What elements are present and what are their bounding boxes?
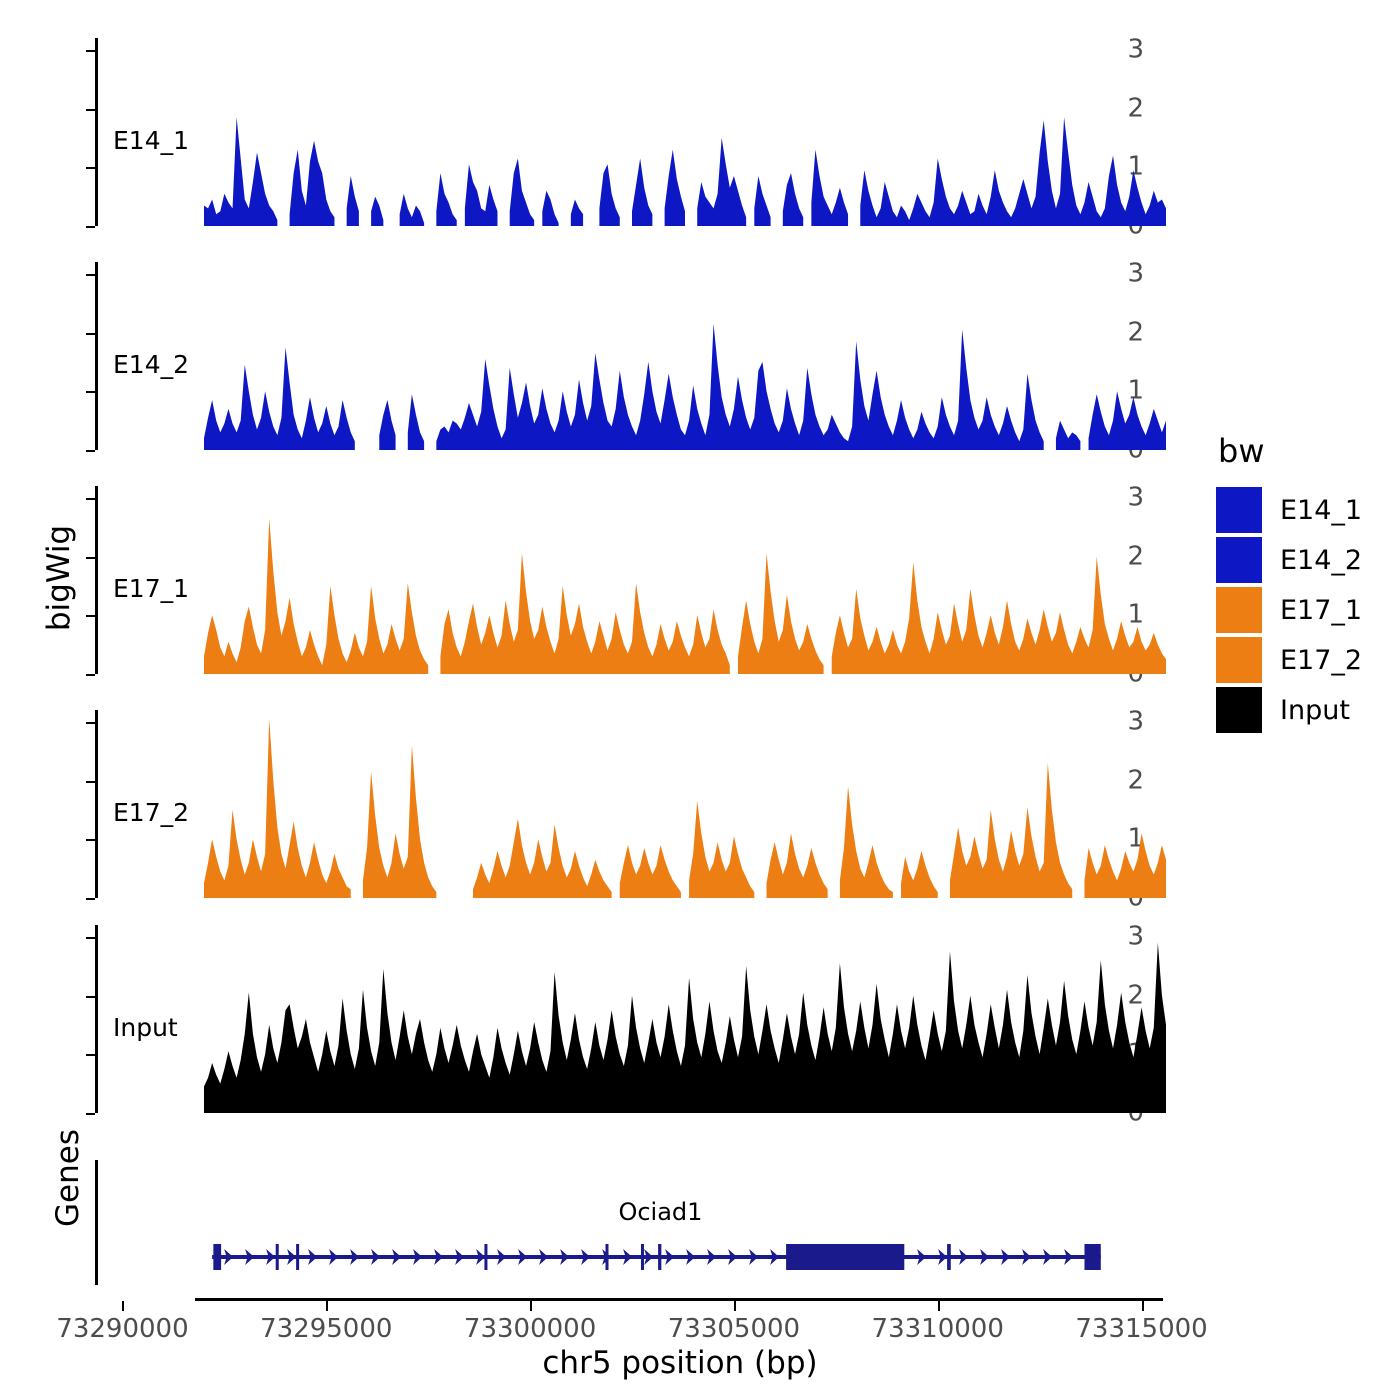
track-panel-e17_2: 3210E17_2: [95, 710, 1166, 898]
y-tick: [86, 937, 95, 939]
x-tick: [938, 1301, 940, 1311]
legend-label: Input: [1280, 695, 1350, 726]
signal-area-e17_2: [98, 710, 1166, 898]
y-tick: [86, 391, 95, 393]
x-tick-label: 73290000: [56, 1314, 188, 1344]
x-tick-label: 73300000: [464, 1314, 596, 1344]
track-panel-e17_1: 3210E17_1: [95, 486, 1166, 674]
legend-label: E17_1: [1280, 595, 1362, 626]
x-tick-label: 73305000: [668, 1314, 800, 1344]
track-panel-e14_2: 3210E14_2: [95, 262, 1166, 450]
legend: bw E14_1E14_2E17_1E17_2Input: [1216, 432, 1362, 736]
legend-title: bw: [1218, 432, 1362, 470]
y-tick: [86, 274, 95, 276]
legend-swatch: [1216, 687, 1262, 733]
signal-area-e17_1: [98, 486, 1166, 674]
legend-swatch: [1216, 587, 1262, 633]
x-tick-label: 73315000: [1075, 1314, 1207, 1344]
y-tick: [86, 1113, 95, 1115]
y-tick: [86, 333, 95, 335]
x-tick-label: 73310000: [872, 1314, 1004, 1344]
x-axis-line: [195, 1298, 1163, 1301]
y-tick: [86, 1054, 95, 1056]
track-panel-input: 3210Input: [95, 925, 1166, 1113]
y-tick: [86, 839, 95, 841]
x-tick: [326, 1301, 328, 1311]
legend-item-e14_1[interactable]: E14_1: [1216, 486, 1362, 534]
genes-strip-label: Genes: [50, 1098, 86, 1258]
x-tick: [530, 1301, 532, 1311]
y-tick: [86, 674, 95, 676]
x-axis-title: chr5 position (bp): [330, 1345, 1030, 1381]
legend-swatch: [1216, 537, 1262, 583]
y-tick: [86, 615, 95, 617]
legend-label: E14_1: [1280, 495, 1362, 526]
y-tick: [86, 167, 95, 169]
legend-item-e17_1[interactable]: E17_1: [1216, 586, 1362, 634]
legend-items: E14_1E14_2E17_1E17_2Input: [1216, 486, 1362, 734]
y-tick: [86, 450, 95, 452]
legend-item-input[interactable]: Input: [1216, 686, 1362, 734]
y-tick: [86, 557, 95, 559]
y-tick: [86, 781, 95, 783]
signal-area-e14_1: [98, 38, 1166, 226]
signal-area-input: [98, 925, 1166, 1113]
legend-label: E14_2: [1280, 545, 1362, 576]
legend-label: E17_2: [1280, 645, 1362, 676]
y-tick: [86, 722, 95, 724]
legend-swatch: [1216, 487, 1262, 533]
legend-item-e17_2[interactable]: E17_2: [1216, 636, 1362, 684]
y-axis-title: bigWig: [41, 498, 77, 658]
x-tick: [734, 1301, 736, 1311]
legend-swatch: [1216, 637, 1262, 683]
y-tick: [86, 109, 95, 111]
y-tick: [86, 498, 95, 500]
y-tick: [86, 50, 95, 52]
y-tick: [86, 898, 95, 900]
signal-area-e14_2: [98, 262, 1166, 450]
track-panel-e14_1: 3210E14_1: [95, 38, 1166, 226]
y-tick: [86, 226, 95, 228]
x-tick: [122, 1301, 124, 1311]
legend-item-e14_2[interactable]: E14_2: [1216, 536, 1362, 584]
y-tick: [86, 996, 95, 998]
x-tick: [1142, 1301, 1144, 1311]
x-tick-label: 73295000: [260, 1314, 392, 1344]
